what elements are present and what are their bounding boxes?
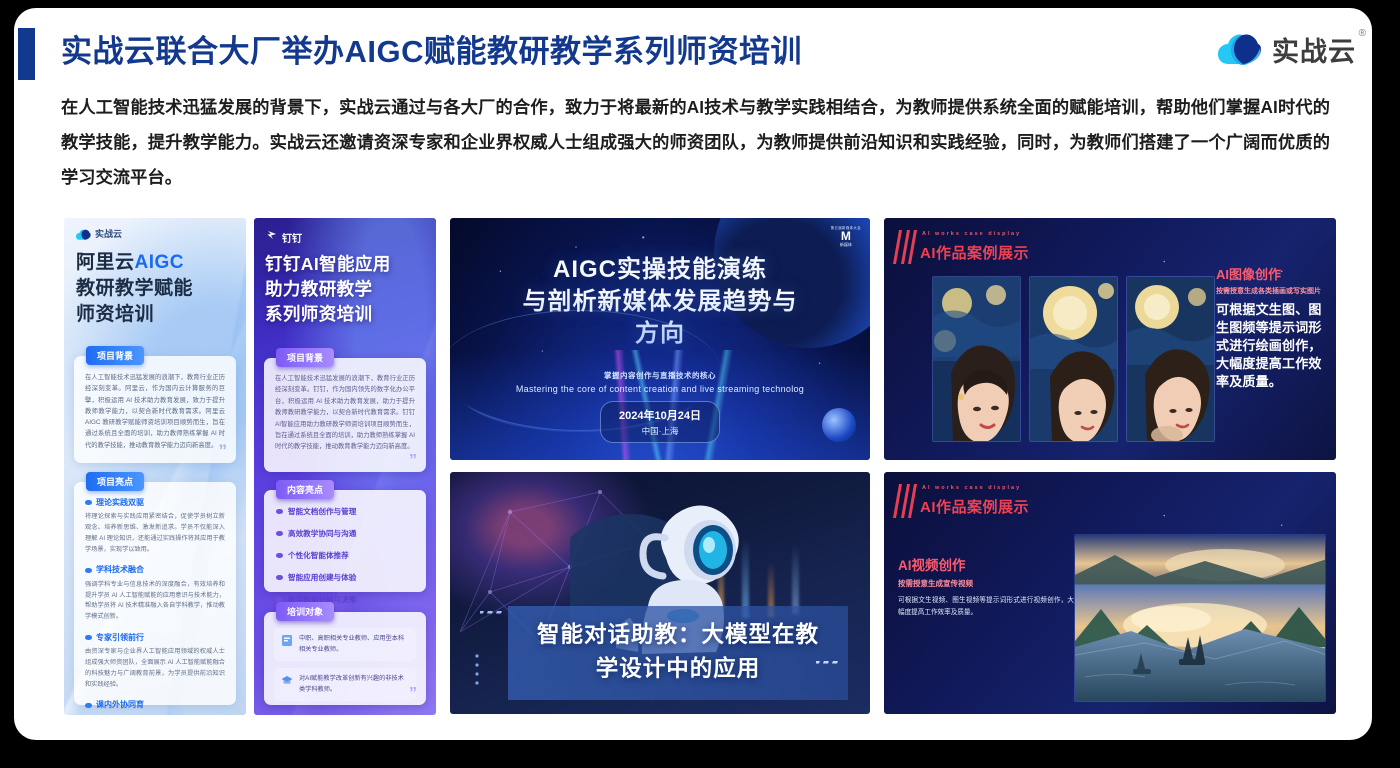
poster-dingtalk-audience-card: 中职、高职相关专业教师、应用型本科相关专业教师。 对AI赋能教学改革创新有兴趣的… bbox=[264, 612, 426, 705]
event-date: 2024年10月24日 bbox=[619, 407, 701, 423]
list-item: 学科技术融合 强调学科专业与信息技术的深度融合，有效培养和提升学员 AI 人工智… bbox=[85, 564, 225, 622]
ai-video-text-block: AI视频创作 按需授意生成宣传视频 可根据文生视频、图生视频等提示词形式进行视频… bbox=[898, 554, 1074, 619]
showcase-label-en: AI works case display bbox=[922, 485, 1021, 491]
highlight-title: 课内外协同育 bbox=[85, 699, 225, 710]
video-thumbnail-top[interactable] bbox=[1074, 534, 1326, 586]
ai-image-subheading: 按需授意生成各类插画或写实图片 bbox=[1216, 286, 1326, 297]
dots-decoration bbox=[816, 658, 846, 668]
list-item: 智能文档创作与管理 bbox=[276, 506, 414, 517]
showcase-label-en: AI works case display bbox=[922, 231, 1021, 237]
cloud-logo-icon bbox=[76, 228, 91, 240]
poster-dingtalk-content-card: 智能文档创作与管理 高效教学协同与沟通 个性化智能体推荐 智能应用创建与体验 教… bbox=[264, 490, 426, 592]
highlight-body: 由资深专家与企业界人工智能应用领域的权威人士组成强大师资团队，全面展示 AI 人… bbox=[85, 647, 225, 690]
poster-aliyun-title-l1: 阿里云 bbox=[76, 252, 135, 273]
artwork-thumbnail[interactable] bbox=[932, 276, 1021, 442]
ai-image-body: 可根据文生图、图生图频等提示词形式进行绘画创作，大幅度提高工作效率及质量。 bbox=[1216, 301, 1326, 391]
poster-aliyun-title-l3: 师资培训 bbox=[76, 302, 193, 328]
image-gallery: 实战云 阿里云AIGC 教研教学赋能 师资培训 项目背景 在人工智能技术迅猛发展… bbox=[64, 218, 1336, 715]
slide-robot-title-banner: 智能对话助教：大模型在教 学设计中的应用 bbox=[508, 606, 848, 700]
poster-aliyun-tag-background: 项目背景 bbox=[86, 346, 144, 365]
slide-aigc-title: AIGC实操技能演练 与剖析新媒体发展趋势与 方向 bbox=[450, 254, 870, 350]
slide-aigc-date-badge: 2024年10月24日 中国·上海 bbox=[600, 401, 720, 443]
slide-aigc-title-l1: AIGC实操技能演练 bbox=[450, 254, 870, 286]
highlight-body: 将理论探索与实践应用紧密结合，促使学员树立新观念、培养新思维、激发新追求。学员不… bbox=[85, 512, 225, 555]
poster-aliyun-title: 阿里云AIGC 教研教学赋能 师资培训 bbox=[76, 250, 193, 328]
slide-aigc-subtitle-cn: 掌握内容创作与直播技术的核心 bbox=[450, 370, 870, 381]
list-item: 个性化智能体推荐 bbox=[276, 550, 414, 561]
poster-aliyun-logo: 实战云 bbox=[76, 227, 122, 240]
video-thumbnail-main[interactable] bbox=[1074, 584, 1326, 702]
badge-main-text: M bbox=[841, 230, 851, 242]
event-location: 中国·上海 bbox=[619, 425, 701, 437]
dots-decoration bbox=[472, 652, 482, 692]
poster-dingtalk-background-card: 在人工智能技术迅猛发展的浪潮下，教育行业正历经深刻变革。钉钉，作为国内领先的数字… bbox=[264, 358, 426, 472]
list-item: 课内外协同育 坚持课内与课外相结合，全方位培养学员的综合素养、教学能力与水平。通… bbox=[85, 699, 225, 715]
quote-mark-icon: ” bbox=[409, 453, 417, 469]
title-accent-bar bbox=[18, 28, 35, 80]
poster-dingtalk-tag-audience: 培训对象 bbox=[276, 602, 334, 621]
poster-dingtalk[interactable]: 钉钉 钉钉AI智能应用 助力教研教学 系列师资培训 项目背景 在人工智能技术迅猛… bbox=[254, 218, 436, 715]
poster-aliyun-title-l2: 教研教学赋能 bbox=[76, 276, 193, 302]
slide-aigc-subtitle-en: Mastering the core of content creation a… bbox=[450, 384, 870, 394]
poster-dingtalk-title-l3: 系列师资培训 bbox=[265, 302, 391, 327]
highlight-body: 强调学科专业与信息技术的深度融合，有效培养和提升学员 AI 人工智能赋能的应用意… bbox=[85, 580, 225, 623]
quote-mark-icon: ” bbox=[219, 442, 228, 459]
poster-dingtalk-tag-content: 内容亮点 bbox=[276, 480, 334, 499]
poster-column: 实战云 阿里云AIGC 教研教学赋能 师资培训 项目背景 在人工智能技术迅猛发展… bbox=[64, 218, 436, 715]
highlight-title: 学科技术融合 bbox=[85, 564, 225, 575]
page-header: 实战云联合大厂举办AIGC赋能教研教学系列师资培训 实战云 ® bbox=[14, 8, 1372, 84]
audience-text: 中职、高职相关专业教师、应用型本科相关专业教师。 bbox=[299, 634, 409, 655]
document-icon bbox=[281, 634, 293, 647]
artwork-thumbnail[interactable] bbox=[1029, 276, 1118, 442]
poster-aliyun-logo-text: 实战云 bbox=[95, 227, 122, 240]
poster-aliyun-title-highlight: AIGC bbox=[135, 252, 185, 273]
list-item: 对AI赋能教学改革创新有兴趣的非技术类学科教师。 bbox=[274, 668, 416, 701]
list-item: 专家引领前行 由资深专家与企业界人工智能应用领域的权威人士组成强大师资团队，全面… bbox=[85, 632, 225, 690]
slide-aigc-conference[interactable]: 第五届新媒体大会 M 新媒体 AIGC实操技能演练 与剖析新媒体发展趋势与 方向… bbox=[450, 218, 870, 460]
poster-aliyun-highlights-card: 理论实践双驱 将理论探索与实践应用紧密结合，促使学员树立新观念、培养新思维、激发… bbox=[74, 482, 236, 705]
list-item: 中职、高职相关专业教师、应用型本科相关专业教师。 bbox=[274, 628, 416, 661]
poster-dingtalk-title: 钉钉AI智能应用 助力教研教学 系列师资培训 bbox=[265, 252, 391, 327]
slide-aigc-title-l3: 方向 bbox=[450, 318, 870, 350]
slide-ai-image-showcase[interactable]: AI works case display AI作品案例展示 bbox=[884, 218, 1336, 460]
intro-paragraph: 在人工智能技术迅猛发展的背景下，实战云通过与各大厂的合作，致力于将最新的AI技术… bbox=[61, 90, 1330, 195]
poster-dingtalk-tag-background: 项目背景 bbox=[276, 348, 334, 367]
ai-image-heading: AI图像创作 bbox=[1216, 264, 1326, 283]
dingtalk-icon bbox=[266, 228, 278, 246]
brand-logo: 实战云 ® bbox=[1218, 30, 1356, 69]
quote-mark-icon: ” bbox=[409, 686, 417, 702]
audience-text: 对AI赋能教学改革创新有兴趣的非技术类学科教师。 bbox=[299, 674, 409, 695]
page-title: 实战云联合大厂举办AIGC赋能教研教学系列师资培训 bbox=[61, 26, 802, 71]
highlight-title: 理论实践双驱 bbox=[85, 497, 225, 508]
list-item: 智能应用创建与体验 bbox=[276, 572, 414, 583]
red-bars-decoration bbox=[896, 484, 914, 518]
slide-robot-assistant[interactable]: 智能对话助教：大模型在教 学设计中的应用 bbox=[450, 472, 870, 714]
graduation-cap-icon bbox=[281, 674, 293, 687]
poster-dingtalk-logo-text: 钉钉 bbox=[282, 230, 302, 245]
slide-robot-title-l2: 学设计中的应用 bbox=[518, 652, 838, 686]
right-slide-column: AI works case display AI作品案例展示 bbox=[884, 218, 1336, 715]
poster-aliyun-tag-highlights: 项目亮点 bbox=[86, 472, 144, 491]
brand-name-text: 实战云 bbox=[1272, 37, 1356, 67]
showcase-label-cn: AI作品案例展示 bbox=[920, 496, 1029, 517]
ai-video-heading: AI视频创作 bbox=[898, 554, 1074, 574]
list-item: 理论实践双驱 将理论探索与实践应用紧密结合，促使学员树立新观念、培养新思维、激发… bbox=[85, 497, 225, 555]
content-card: 实战云联合大厂举办AIGC赋能教研教学系列师资培训 实战云 ® 在人工智能技术迅… bbox=[14, 8, 1372, 740]
showcase-label-cn: AI作品案例展示 bbox=[920, 242, 1029, 263]
poster-dingtalk-title-l1: 钉钉AI智能应用 bbox=[265, 252, 391, 277]
badge-sub-text: 新媒体 bbox=[840, 242, 852, 248]
poster-aliyun[interactable]: 实战云 阿里云AIGC 教研教学赋能 师资培训 项目背景 在人工智能技术迅猛发展… bbox=[64, 218, 246, 715]
artwork-thumbnail[interactable] bbox=[1126, 276, 1215, 442]
conference-badge: 第五届新媒体大会 M 新媒体 bbox=[831, 225, 861, 248]
slide-ai-video-showcase[interactable]: AI works case display AI作品案例展示 AI视频创作 按需… bbox=[884, 472, 1336, 714]
ai-video-body: 可根据文生视频、图生视频等提示词形式进行视频创作，大幅度提高工作效率及质量。 bbox=[898, 595, 1074, 619]
poster-aliyun-background-body: 在人工智能技术迅猛发展的浪潮下，教育行业正历经深刻变革。阿里云，作为国内云计算服… bbox=[74, 356, 236, 463]
ai-video-subheading: 按需授意生成宣传视频 bbox=[898, 578, 1074, 589]
slide-aigc-title-l2: 与剖析新媒体发展趋势与 bbox=[450, 286, 870, 318]
slide-robot-title-l1: 智能对话助教：大模型在教 bbox=[518, 618, 838, 652]
brand-name: 实战云 ® bbox=[1272, 30, 1356, 69]
poster-aliyun-background-card: 在人工智能技术迅猛发展的浪潮下，教育行业正历经深刻变革。阿里云，作为国内云计算服… bbox=[74, 356, 236, 463]
cloud-logo-icon bbox=[1218, 33, 1262, 67]
dots-decoration bbox=[480, 608, 510, 618]
small-sphere-decoration bbox=[822, 408, 856, 442]
center-slide-column: 第五届新媒体大会 M 新媒体 AIGC实操技能演练 与剖析新媒体发展趋势与 方向… bbox=[450, 218, 870, 715]
poster-dingtalk-title-l2: 助力教研教学 bbox=[265, 277, 391, 302]
artwork-grid bbox=[932, 276, 1215, 442]
poster-dingtalk-logo: 钉钉 bbox=[266, 228, 302, 246]
highlight-title: 专家引领前行 bbox=[85, 632, 225, 643]
ai-image-text-block: AI图像创作 按需授意生成各类插画或写实图片 可根据文生图、图生图频等提示词形式… bbox=[1216, 264, 1326, 391]
list-item: 高效教学协同与沟通 bbox=[276, 528, 414, 539]
registered-mark: ® bbox=[1359, 28, 1367, 39]
poster-dingtalk-background-body: 在人工智能技术迅猛发展的浪潮下，教育行业正历经深刻变革。钉钉，作为国内领先的数字… bbox=[264, 358, 426, 465]
red-bars-decoration bbox=[896, 230, 914, 264]
